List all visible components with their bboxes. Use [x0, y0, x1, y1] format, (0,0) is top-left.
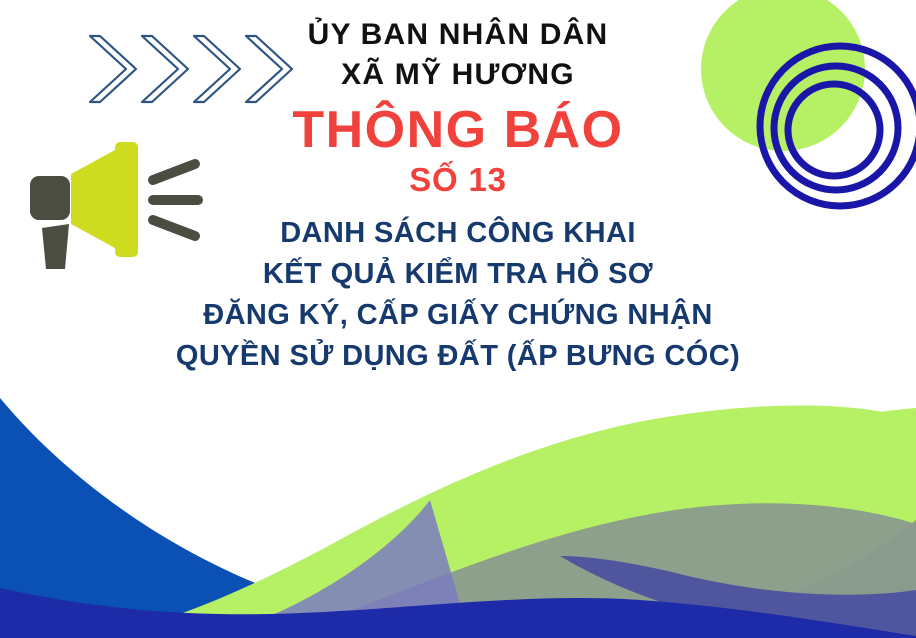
wave-purple-right: [560, 556, 916, 638]
wave-blue-left: [0, 398, 560, 638]
wave-gray-green-2: [460, 520, 916, 638]
notice-body-line-2: KẾT QUẢ KIỂM TRA HỒ SƠ: [0, 254, 916, 295]
issuing-authority-line2: XÃ MỸ HƯƠNG: [0, 56, 916, 94]
notice-body: DANH SÁCH CÔNG KHAI KẾT QUẢ KIỂM TRA HỒ …: [0, 213, 916, 378]
notice-number: SỐ 13: [0, 162, 916, 198]
notice-text-block: ỦY BAN NHÂN DÂN XÃ MỸ HƯƠNG THÔNG BÁO SỐ…: [0, 0, 916, 377]
wave-green: [120, 405, 916, 638]
notice-body-line-3: ĐĂNG KÝ, CẤP GIẤY CHỨNG NHẬN: [0, 295, 916, 336]
wave-green-right: [300, 408, 916, 638]
notice-body-line-1: DANH SÁCH CÔNG KHAI: [0, 213, 916, 254]
wave-gray-green: [200, 503, 916, 638]
page-title: THÔNG BÁO: [0, 102, 916, 158]
notice-body-line-4: QUYỀN SỬ DỤNG ĐẤT (ẤP BƯNG CÓC): [0, 336, 916, 377]
wave-deep-navy: [0, 588, 916, 638]
notice-poster: ỦY BAN NHÂN DÂN XÃ MỸ HƯƠNG THÔNG BÁO SỐ…: [0, 0, 916, 638]
wave-purple: [186, 500, 470, 638]
wave-deep-navy-2: [0, 600, 380, 638]
issuing-authority-line1: ỦY BAN NHÂN DÂN: [0, 16, 916, 54]
